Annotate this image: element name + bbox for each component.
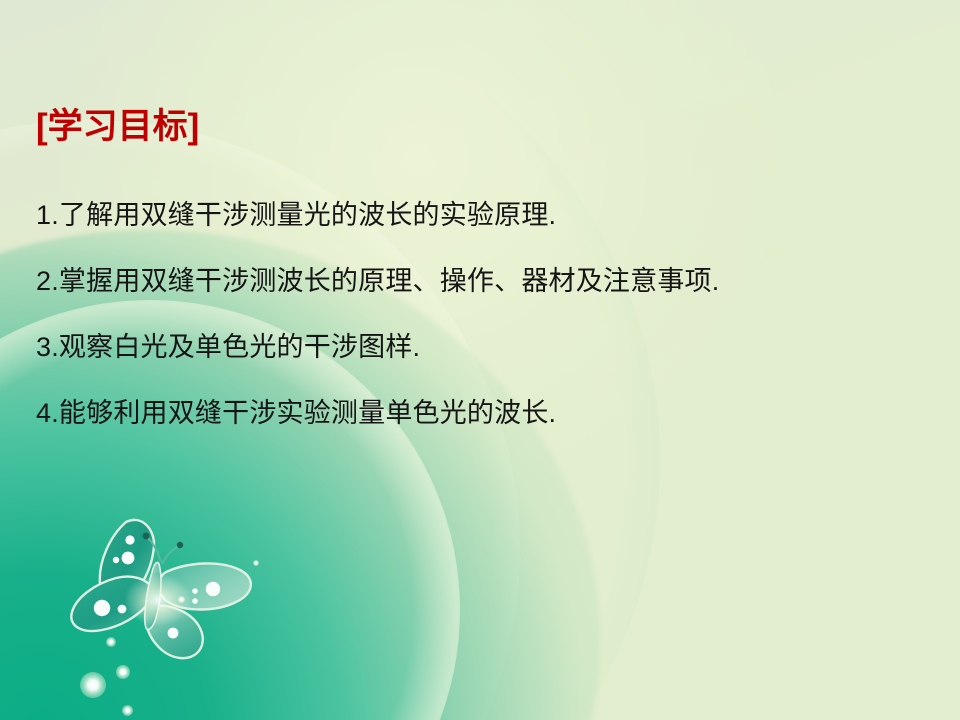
list-item: 3.观察白光及单色光的干涉图样. (36, 314, 916, 380)
page-title: [学习目标] (36, 98, 199, 149)
list-item: 2.掌握用双缝干涉测波长的原理、操作、器材及注意事项. (36, 248, 916, 314)
slide-canvas: [学习目标] 1.了解用双缝干涉测量光的波长的实验原理. 2.掌握用双缝干涉测波… (0, 0, 960, 720)
list-item: 1.了解用双缝干涉测量光的波长的实验原理. (36, 182, 916, 248)
list-item: 4.能够利用双缝干涉实验测量单色光的波长. (36, 380, 916, 446)
slide-content: [学习目标] 1.了解用双缝干涉测量光的波长的实验原理. 2.掌握用双缝干涉测波… (0, 0, 960, 720)
learning-goals-list: 1.了解用双缝干涉测量光的波长的实验原理. 2.掌握用双缝干涉测波长的原理、操作… (36, 182, 916, 446)
